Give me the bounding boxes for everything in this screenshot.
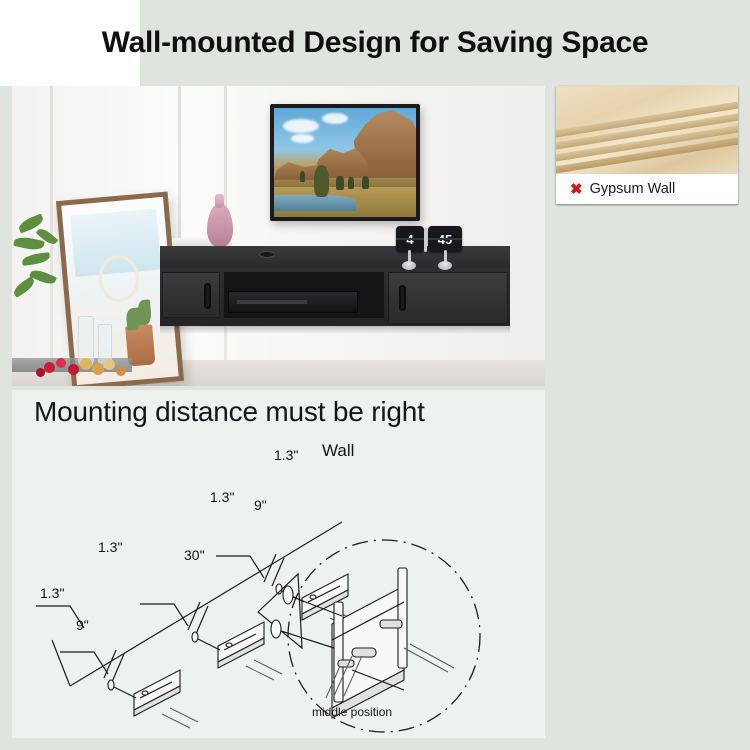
flip-clock: 4 45 bbox=[396, 226, 462, 270]
detail-magnifier: middle position bbox=[258, 540, 480, 732]
mounting-diagram: 1.3" 9" 1.3" 30" 1.3" 9" 1.3" Wall bbox=[12, 434, 545, 738]
wall-type-list: ✔ Solid Brick Wall ✔ Concrete Wall ✔ Woo… bbox=[556, 86, 744, 738]
console-drawer-right bbox=[388, 272, 508, 324]
dim-label: 1.3" bbox=[40, 585, 64, 601]
console-shadow bbox=[160, 326, 510, 334]
wall-bracket-left bbox=[108, 670, 198, 728]
dim-label: 30" bbox=[184, 547, 205, 563]
vase-neck bbox=[215, 194, 224, 208]
fruit-bowl bbox=[30, 344, 150, 386]
wall-card-label-row: ✖ Gypsum Wall bbox=[556, 174, 738, 204]
wall-bracket-middle bbox=[192, 622, 282, 680]
page-header: Wall-mounted Design for Saving Space bbox=[0, 0, 750, 86]
wall-label: Wall bbox=[322, 441, 354, 460]
cable-grommet bbox=[259, 251, 275, 258]
pink-glass-vase bbox=[207, 204, 233, 248]
wall-type-name: Gypsum Wall bbox=[590, 181, 676, 197]
page-title: Wall-mounted Design for Saving Space bbox=[0, 0, 750, 86]
lifestyle-photo: 4 45 bbox=[12, 86, 545, 386]
television bbox=[270, 104, 420, 221]
dim-label: 1.3" bbox=[274, 447, 298, 463]
diagram-title: Mounting distance must be right bbox=[34, 396, 425, 428]
dim-label: 9" bbox=[254, 497, 267, 513]
gypsum-wall-thumbnail bbox=[556, 86, 738, 174]
mounting-diagram-panel: Mounting distance must be right bbox=[12, 390, 545, 738]
tv-screen bbox=[274, 108, 416, 217]
cross-icon: ✖ bbox=[570, 182, 583, 197]
middle-position-label: middle position bbox=[312, 705, 392, 719]
dim-label: 1.3" bbox=[210, 489, 234, 505]
console-drawer-left bbox=[162, 272, 220, 318]
wall-card-gypsum[interactable]: ✖ Gypsum Wall bbox=[556, 86, 738, 204]
dim-label: 1.3" bbox=[98, 539, 122, 555]
media-player bbox=[228, 291, 358, 313]
